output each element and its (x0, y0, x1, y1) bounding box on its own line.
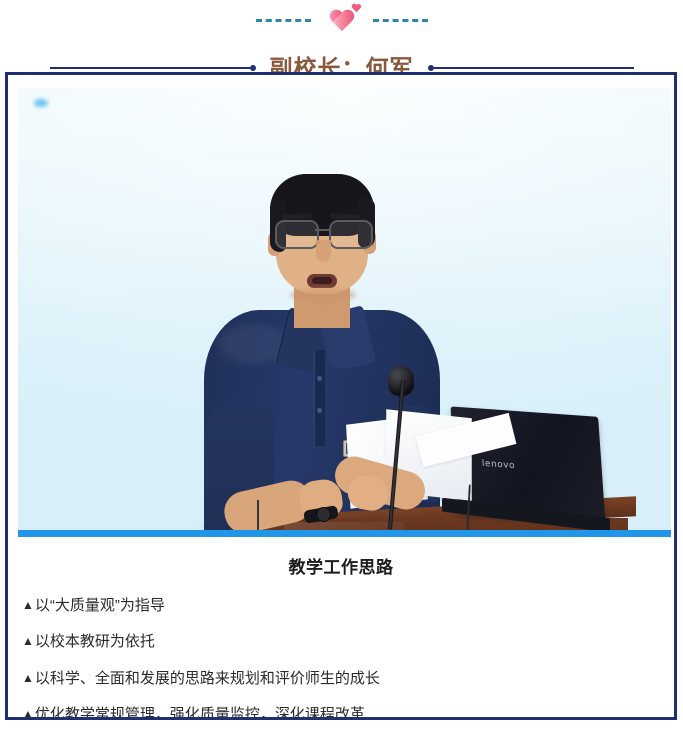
dashed-line-right (373, 19, 428, 22)
top-decoration-divider (0, 0, 683, 40)
list-item: ▲优化教学常规管理，强化质量监控，深化课程改革 (22, 705, 660, 720)
speaker-chin-shadow (290, 288, 356, 302)
triangle-bullet-icon: ▲ (22, 671, 34, 685)
small-heart-icon (352, 4, 361, 12)
content-heading: 教学工作思路 (22, 553, 660, 578)
shirt-button-bottom (317, 408, 322, 413)
speaker-photo: lenovo (18, 88, 671, 536)
heart-decoration (311, 3, 373, 37)
content-text-block: 教学工作思路 ▲以“大质量观”为指导 ▲以校本教研为依托 ▲以科学、全面和发展的… (8, 543, 674, 720)
list-item-text: 以“大质量观”为指导 (35, 597, 165, 614)
shirt-button-top (317, 376, 322, 381)
list-item-text: 优化教学常规管理，强化质量监控，深化课程改革 (35, 706, 365, 720)
list-item-text: 以校本教研为依托 (35, 633, 155, 650)
list-item: ▲以“大质量观”为指导 (22, 596, 660, 616)
dashed-line-left (256, 19, 311, 22)
triangle-bullet-icon: ▲ (22, 707, 34, 720)
photo-accent-bar (18, 530, 671, 537)
content-card: lenovo 教学工作思路 ▲以“大质量观”为指导 ▲以校本教研为依托 ▲以科学… (5, 72, 677, 720)
list-item: ▲以校本教研为依托 (22, 632, 660, 652)
speaker-nose (316, 240, 331, 262)
triangle-bullet-icon: ▲ (22, 634, 34, 648)
bullet-list: ▲以“大质量观”为指导 ▲以校本教研为依托 ▲以科学、全面和发展的思路来规划和评… (22, 596, 660, 720)
glasses-lens-left (275, 220, 319, 249)
speaker-mouth-inner (312, 277, 332, 284)
triangle-bullet-icon: ▲ (22, 598, 34, 612)
heart-icon (329, 10, 355, 33)
list-item-text: 以科学、全面和发展的思路来规划和评价师生的成长 (35, 670, 380, 687)
title-rule-right (434, 67, 634, 69)
glasses-bridge (315, 229, 329, 231)
glasses-lens-right (329, 220, 373, 249)
shirt-placket (314, 350, 325, 446)
list-item: ▲以科学、全面和发展的思路来规划和评价师生的成长 (22, 669, 660, 689)
title-rule-left (50, 67, 250, 69)
